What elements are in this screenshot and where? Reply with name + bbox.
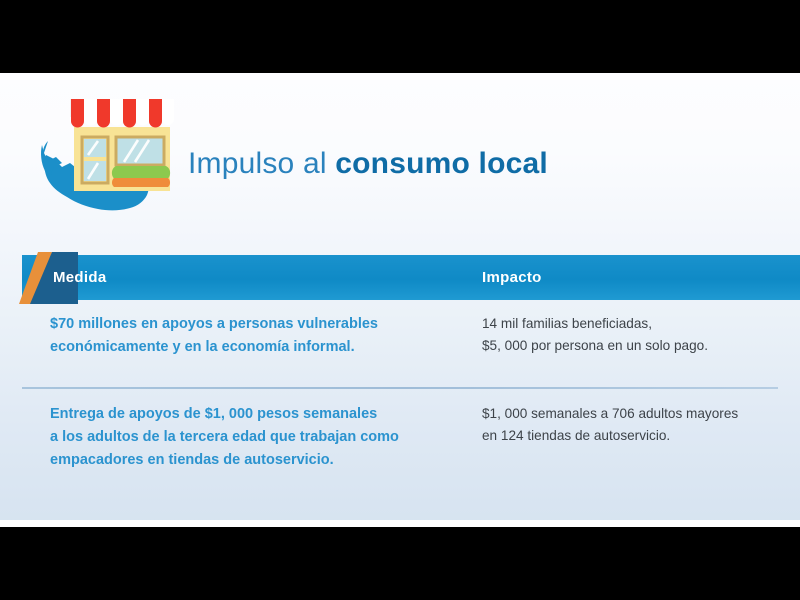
slide-header: Impulso al consumo local [0,73,800,238]
storefront-over-map-icon [40,83,190,223]
page-title-bold: consumo local [335,147,548,180]
cell-impacto: 14 mil familias beneficiadas, $5, 000 po… [482,313,782,358]
cell-line: $1, 000 semanales a 706 adultos mayores [482,403,782,425]
cell-line: empacadores en tiendas de autoservicio. [50,449,470,472]
letterbox-bar-top [0,0,800,73]
table-header-bar [22,255,800,300]
cell-line: a los adultos de la tercera edad que tra… [50,426,470,449]
column-header-impacto: Impacto [482,269,542,286]
presentation-slide: Impulso al consumo local Medida Impacto … [0,73,800,527]
cell-medida: $70 millones en apoyos a personas vulner… [50,313,470,359]
cell-line: Entrega de apoyos de $1, 000 pesos seman… [50,403,470,426]
page-title: Impulso al consumo local [188,147,548,181]
letterbox-bar-bottom [0,527,800,600]
slide-footer-strip [0,520,800,527]
cell-medida: Entrega de apoyos de $1, 000 pesos seman… [50,403,470,471]
cell-line: en 124 tiendas de autoservicio. [482,425,782,447]
cell-line: 14 mil familias beneficiadas, [482,313,782,335]
cell-impacto: $1, 000 semanales a 706 adultos mayores … [482,403,782,448]
cell-line: $5, 000 por persona en un solo pago. [482,335,782,357]
column-header-medida: Medida [53,269,106,286]
page-title-light: Impulso al [188,147,335,180]
cell-line: $70 millones en apoyos a personas vulner… [50,313,470,336]
cell-line: económicamente y en la economía informal… [50,336,470,359]
video-frame: Impulso al consumo local Medida Impacto … [0,0,800,600]
row-divider [22,387,778,389]
